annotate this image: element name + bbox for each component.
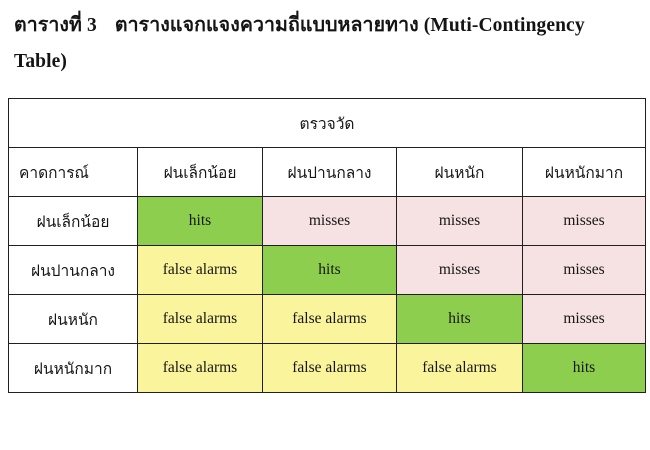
contingency-table: ตรวจวัด คาดการณ์ ฝนเล็กน้อย ฝนปานกลาง ฝน… [8, 98, 646, 393]
cell-r4c4: hits [523, 344, 646, 393]
column-header-1: ฝนเล็กน้อย [138, 148, 263, 197]
cell-r4c3: false alarms [397, 344, 523, 393]
row-header-3: ฝนหนัก [9, 295, 138, 344]
column-header-2: ฝนปานกลาง [263, 148, 397, 197]
row-header-2: ฝนปานกลาง [9, 246, 138, 295]
contingency-table-container: ตรวจวัด คาดการณ์ ฝนเล็กน้อย ฝนปานกลาง ฝน… [8, 98, 645, 393]
caption-text: ตารางแจกแจงความถี่แบบหลายทาง (Muti-Conti… [14, 15, 585, 72]
cell-r2c3: misses [397, 246, 523, 295]
cell-r4c2: false alarms [263, 344, 397, 393]
table-column-header-row: คาดการณ์ ฝนเล็กน้อย ฝนปานกลาง ฝนหนัก ฝนห… [9, 148, 646, 197]
cell-r3c4: misses [523, 295, 646, 344]
cell-r2c1: false alarms [138, 246, 263, 295]
supercolumn-header-cell: ตรวจวัด [9, 99, 646, 148]
row-axis-header-cell: คาดการณ์ [9, 148, 138, 197]
row-header-1: ฝนเล็กน้อย [9, 197, 138, 246]
cell-r3c1: false alarms [138, 295, 263, 344]
table-row: ฝนปานกลาง false alarms hits misses misse… [9, 246, 646, 295]
cell-r1c3: misses [397, 197, 523, 246]
column-header-4: ฝนหนักมาก [523, 148, 646, 197]
row-header-4: ฝนหนักมาก [9, 344, 138, 393]
cell-r3c2: false alarms [263, 295, 397, 344]
cell-r2c4: misses [523, 246, 646, 295]
table-supercolumn-header-row: ตรวจวัด [9, 99, 646, 148]
caption-label: ตารางที่ 3 [14, 15, 97, 36]
table-row: ฝนหนัก false alarms false alarms hits mi… [9, 295, 646, 344]
cell-r1c2: misses [263, 197, 397, 246]
cell-r4c1: false alarms [138, 344, 263, 393]
cell-r2c2: hits [263, 246, 397, 295]
column-header-3: ฝนหนัก [397, 148, 523, 197]
table-row: ฝนหนักมาก false alarms false alarms fals… [9, 344, 646, 393]
cell-r1c4: misses [523, 197, 646, 246]
table-row: ฝนเล็กน้อย hits misses misses misses [9, 197, 646, 246]
cell-r1c1: hits [138, 197, 263, 246]
table-caption: ตารางที่ 3ตารางแจกแจงความถี่แบบหลายทาง (… [14, 8, 640, 80]
cell-r3c3: hits [397, 295, 523, 344]
